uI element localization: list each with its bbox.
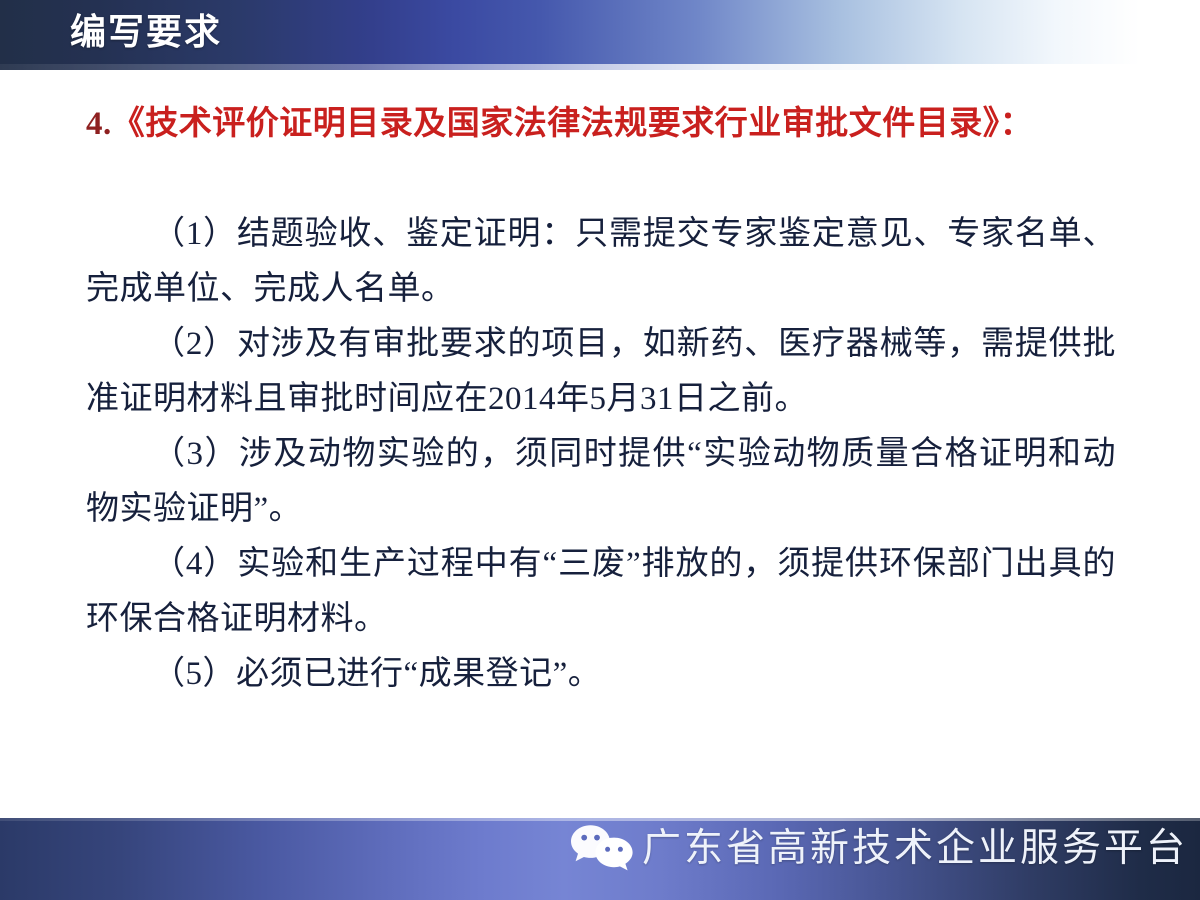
list-item: （3）涉及动物实验的，须同时提供“实验动物质量合格证明和动物实验证明”。 bbox=[86, 427, 1116, 537]
section-heading: 4.《技术评价证明目录及国家法律法规要求行业审批文件目录》： bbox=[86, 97, 1116, 152]
list-item: （5）必须已进行“成果登记”。 bbox=[86, 647, 1116, 702]
list-item: （4）实验和生产过程中有“三废”排放的，须提供环保部门出具的环保合格证明材料。 bbox=[86, 537, 1116, 647]
page-title: 编写要求 bbox=[70, 8, 222, 56]
list-item: （2）对涉及有审批要求的项目，如新药、医疗器械等，需提供批准证明材料且审批时间应… bbox=[86, 317, 1116, 427]
footer-brand-text: 广东省高新技术企业服务平台 bbox=[642, 820, 1188, 878]
wechat-icon bbox=[570, 824, 636, 874]
slide-canvas: 编写要求 4.《技术评价证明目录及国家法律法规要求行业审批文件目录》： （1）结… bbox=[0, 0, 1200, 900]
section-heading-number: 4. bbox=[86, 106, 112, 142]
slide-body: 4.《技术评价证明目录及国家法律法规要求行业审批文件目录》： （1）结题验收、鉴… bbox=[0, 70, 1200, 818]
list-item: （1）结题验收、鉴定证明：只需提交专家鉴定意见、专家名单、完成单位、完成人名单。 bbox=[86, 207, 1116, 317]
section-heading-text: 《技术评价证明目录及国家法律法规要求行业审批文件目录》： bbox=[112, 106, 1034, 142]
